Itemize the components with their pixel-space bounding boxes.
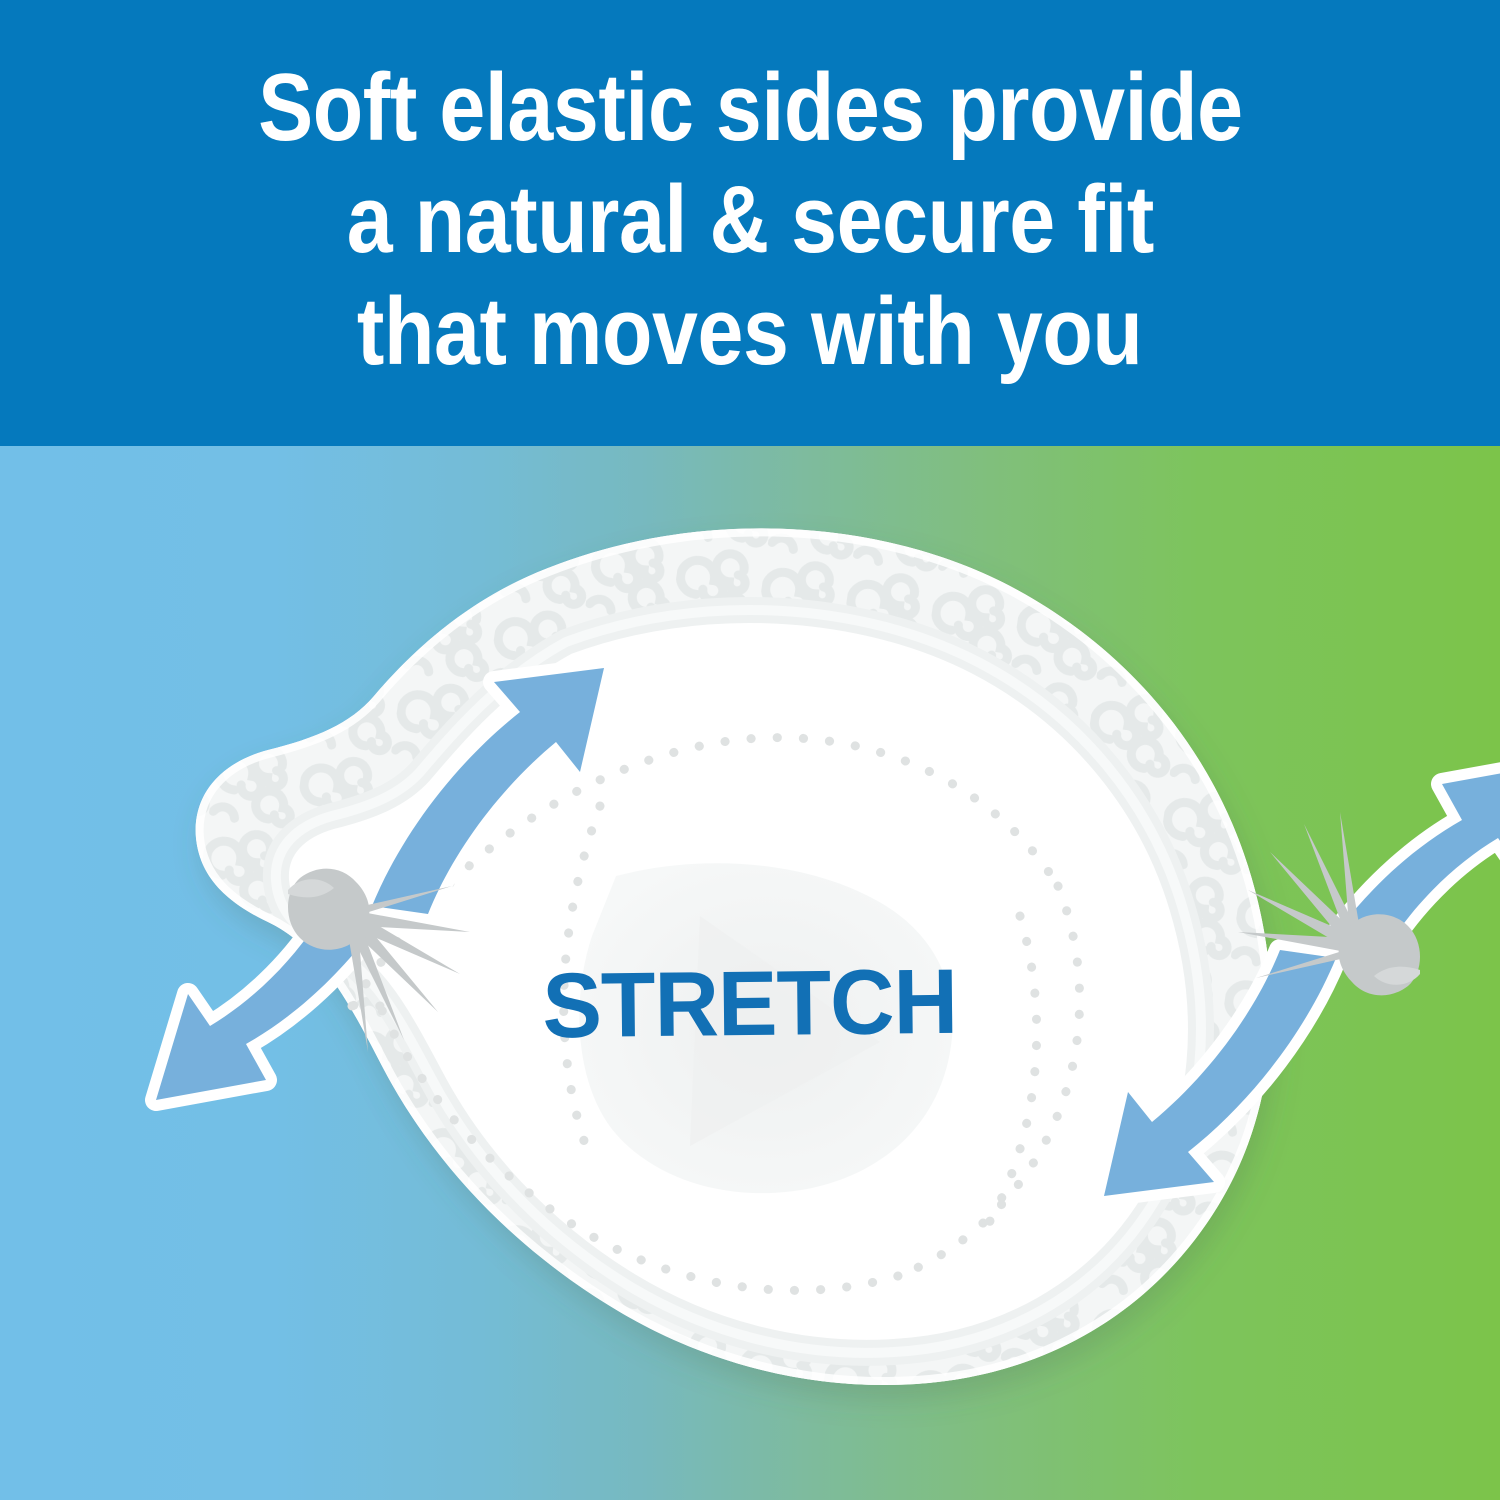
headline-line-1: Soft elastic sides provide	[258, 52, 1242, 164]
headline-banner: Soft elastic sides provide a natural & s…	[0, 0, 1500, 446]
product-feature-image: Soft elastic sides provide a natural & s…	[0, 0, 1500, 1500]
product-illustration	[0, 446, 1500, 1500]
arrow-down-left-lower-right	[1340, 764, 1500, 940]
lower-right-elastic-seam	[1339, 914, 1420, 995]
arrow-down-left-upper-left	[156, 924, 368, 1100]
headline-line-3: that moves with you	[357, 276, 1142, 388]
headline-line-2: a natural & secure fit	[346, 164, 1153, 276]
product-stage: STRETCH	[0, 446, 1500, 1500]
